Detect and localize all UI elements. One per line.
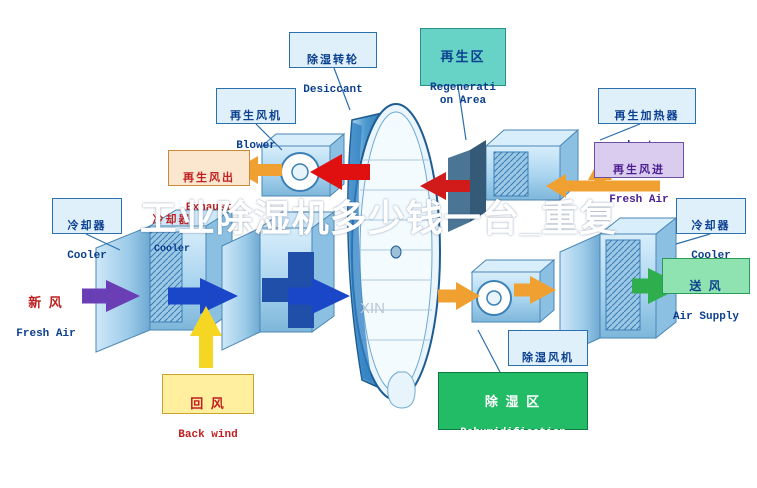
label-fresh-air-inlet-en: Fresh Air bbox=[2, 328, 90, 340]
label-cooler-mid-cn: 冷却器 bbox=[140, 214, 204, 226]
label-cooler-mid-en: Cooler bbox=[140, 244, 204, 255]
label-regeneration-fresh-air-cn: 再生风进 bbox=[595, 164, 683, 176]
label-desiccant-rotor: 除湿转轮 Desiccant bbox=[289, 32, 377, 68]
label-back-wind-cn: 回 风 bbox=[163, 397, 253, 412]
label-regeneration-area: 再生区 Regenerati on Area bbox=[420, 28, 506, 86]
label-dehumidification-district-cn: 除 湿 区 bbox=[439, 395, 587, 410]
label-cooler-left-en: Cooler bbox=[53, 250, 121, 262]
label-regeneration-fresh-air: 再生风进 Fresh Air bbox=[594, 142, 684, 178]
label-cooler-mid: 冷却器 Cooler bbox=[140, 196, 204, 230]
label-dehumidify-blower-cn: 除湿风机 bbox=[509, 352, 587, 364]
label-dehumidification-district: 除 湿 区 Dehumidification District bbox=[438, 372, 588, 430]
label-air-supply: 送 风 Air Supply bbox=[662, 258, 750, 294]
label-regeneration-area-cn: 再生区 bbox=[421, 50, 505, 65]
label-fresh-air-inlet-cn: 新 风 bbox=[2, 296, 90, 311]
label-dehumidification-district-en: Dehumidification District bbox=[439, 427, 587, 452]
label-regeneration-blower-cn: 再生风机 bbox=[217, 110, 295, 122]
label-cooler-left: 冷却器 Cooler bbox=[52, 198, 122, 234]
label-cooler-left-cn: 冷却器 bbox=[53, 220, 121, 232]
label-back-wind: 回 风 Back wind bbox=[162, 374, 254, 414]
faint-watermark: XIN bbox=[360, 300, 385, 317]
label-dehumidify-blower: 除湿风机 Blower bbox=[508, 330, 588, 366]
desiccant-rotor-wheel bbox=[348, 104, 440, 408]
label-air-supply-en: Air Supply bbox=[663, 311, 749, 323]
label-regeneration-exhaust-cn: 再生风出 bbox=[169, 172, 249, 184]
label-air-supply-cn: 送 风 bbox=[663, 280, 749, 293]
dehumidifier-process-diagram: 除湿转轮 Desiccant 再生区 Regenerati on Area 再生… bbox=[0, 0, 757, 488]
label-regeneration-heater-cn: 再生加热器 bbox=[599, 110, 695, 122]
label-desiccant-rotor-en: Desiccant bbox=[290, 84, 376, 96]
label-cooler-right-cn: 冷却器 bbox=[677, 220, 745, 232]
label-regeneration-blower: 再生风机 Blower bbox=[216, 88, 296, 124]
label-regeneration-area-en: Regenerati on Area bbox=[421, 82, 505, 107]
label-back-wind-en: Back wind bbox=[163, 429, 253, 441]
label-fresh-air-inlet: 新 风 Fresh Air bbox=[2, 278, 90, 314]
label-regeneration-heater: 再生加热器 heater bbox=[598, 88, 696, 124]
label-regeneration-fresh-air-en: Fresh Air bbox=[595, 194, 683, 206]
label-regeneration-exhaust: 再生风出 Exhaust bbox=[168, 150, 250, 186]
label-cooler-right: 冷却器 Cooler bbox=[676, 198, 746, 234]
label-desiccant-rotor-cn: 除湿转轮 bbox=[290, 54, 376, 66]
